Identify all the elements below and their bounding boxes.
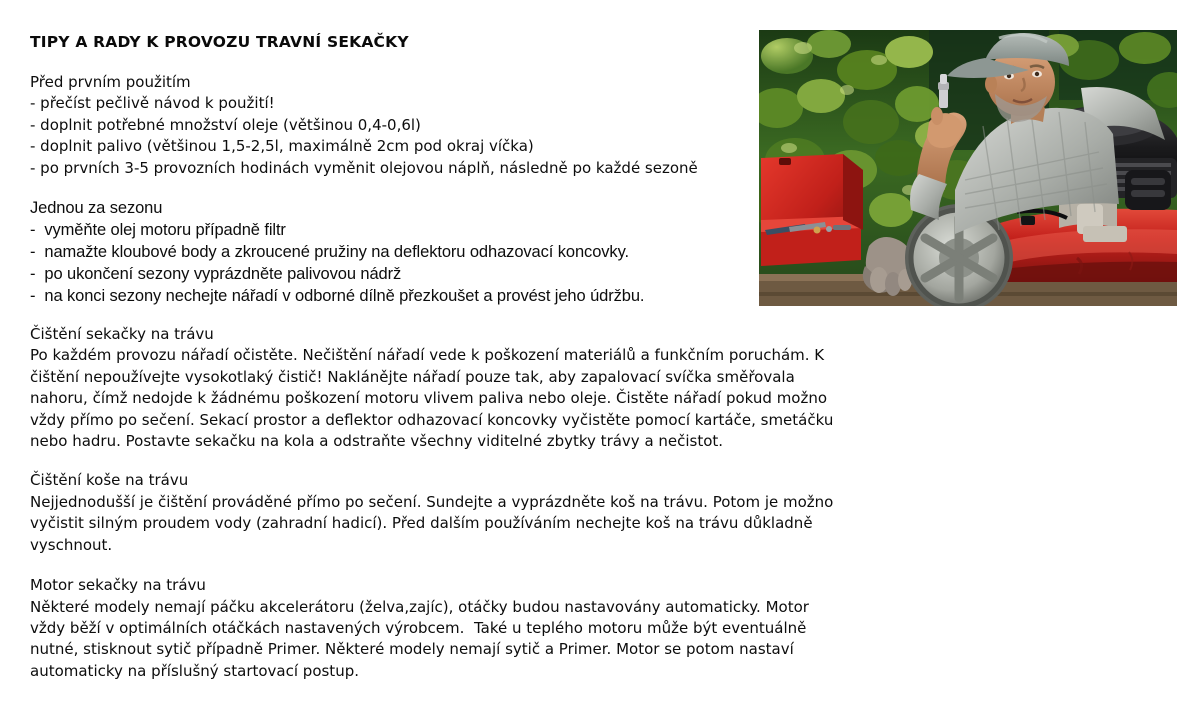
section-heading: Čištění sekačky na trávu [30, 324, 910, 345]
section-line: Nejjednodušší je čištění prováděné přímo… [30, 492, 910, 513]
section-heading: Před prvním použitím [30, 72, 910, 93]
section-motor-sekacky-na-travu: Motor sekačky na trávu Některé modely ne… [30, 575, 910, 682]
section-line: - doplnit palivo (většinou 1,5-2,5l, max… [30, 136, 910, 157]
section-line: vždy přímo po sečení. Sekací prostor a d… [30, 410, 910, 431]
page-title: TIPY A RADY K PROVOZU TRAVNÍ SEKAČKY [30, 32, 910, 52]
section-line: vyschnout. [30, 535, 910, 556]
section-cisteni-sekacky-na-travu: Čištění sekačky na trávu Po každém provo… [30, 324, 910, 452]
section-line: - doplnit potřebné množství oleje (větši… [30, 115, 910, 136]
section-line: Po každém provozu nářadí očistěte. Nečiš… [30, 345, 910, 366]
article-text-column: TIPY A RADY K PROVOZU TRAVNÍ SEKAČKY Pře… [30, 32, 910, 682]
section-line: vždy běží v optimálních otáčkách nastave… [30, 618, 910, 639]
section-cisteni-kose-na-travu: Čištění koše na trávu Nejjednodušší je č… [30, 470, 910, 556]
section-line: - přečíst pečlivě návod k použití! [30, 93, 910, 114]
section-line: - po prvních 3-5 provozních hodinách vym… [30, 158, 910, 179]
section-line: Některé modely nemají páčku akcelerátoru… [30, 597, 910, 618]
section-line: - po ukončení sezony vyprázdněte palivov… [30, 263, 910, 285]
section-heading: Čištění koše na trávu [30, 470, 910, 491]
section-line: nebo hadru. Postavte sekačku na kola a o… [30, 431, 910, 452]
section-line: nutné, stisknout sytič případně Primer. … [30, 639, 910, 660]
section-line: - namažte kloubové body a zkroucené pruž… [30, 241, 910, 263]
section-pred-prvnim-pouzitim: Před prvním použitím - přečíst pečlivě n… [30, 72, 910, 179]
section-line: nahoru, čímž nedojde k žádnému poškození… [30, 388, 910, 409]
section-line: - na konci sezony nechejte nářadí v odbo… [30, 285, 910, 307]
section-line: - vyměňte olej motoru případně filtr [30, 219, 910, 241]
section-heading: Motor sekačky na trávu [30, 575, 910, 596]
section-jednou-za-sezonu: Jednou za sezonu - vyměňte olej motoru p… [30, 197, 910, 307]
section-heading: Jednou za sezonu [30, 197, 910, 219]
section-line: vyčistit silným proudem vody (zahradní h… [30, 513, 910, 534]
document-page: TIPY A RADY K PROVOZU TRAVNÍ SEKAČKY Pře… [0, 0, 1188, 701]
section-line: čištění nepoužívejte vysokotlaký čistič!… [30, 367, 910, 388]
section-line: automaticky na příslušný startovací post… [30, 661, 910, 682]
